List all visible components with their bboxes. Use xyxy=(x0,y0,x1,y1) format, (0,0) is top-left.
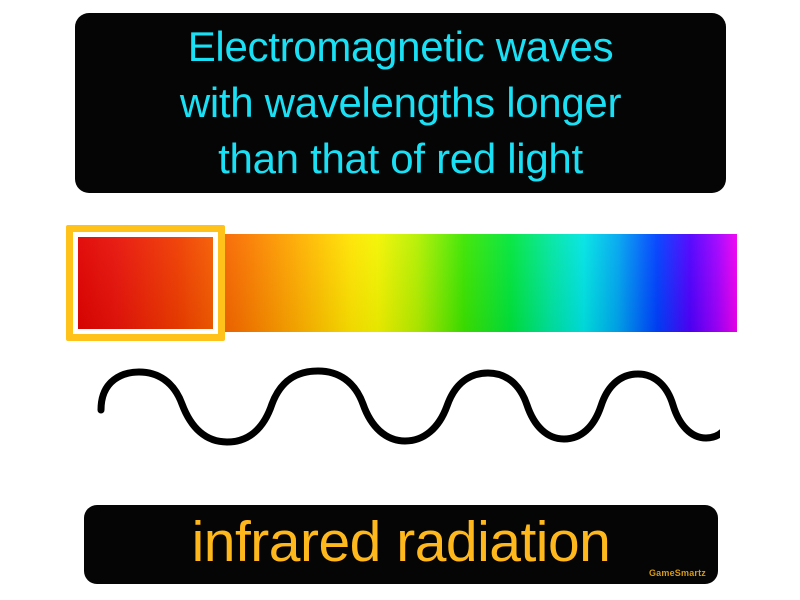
wave-svg xyxy=(90,362,720,466)
wave-illustration xyxy=(90,362,720,466)
definition-card: Electromagnetic waves with wavelengths l… xyxy=(0,0,800,600)
definition-text: Electromagnetic waves with wavelengths l… xyxy=(164,19,637,188)
spectrum-highlight-box[interactable] xyxy=(66,225,225,341)
spectrum-highlight-inner-border xyxy=(73,232,218,334)
wave-path xyxy=(101,371,720,442)
term-panel: infrared radiation GameSmartz xyxy=(84,505,718,584)
definition-panel: Electromagnetic waves with wavelengths l… xyxy=(75,13,726,193)
term-text: infrared radiation xyxy=(192,514,611,575)
watermark-label: GameSmartz xyxy=(649,568,706,578)
